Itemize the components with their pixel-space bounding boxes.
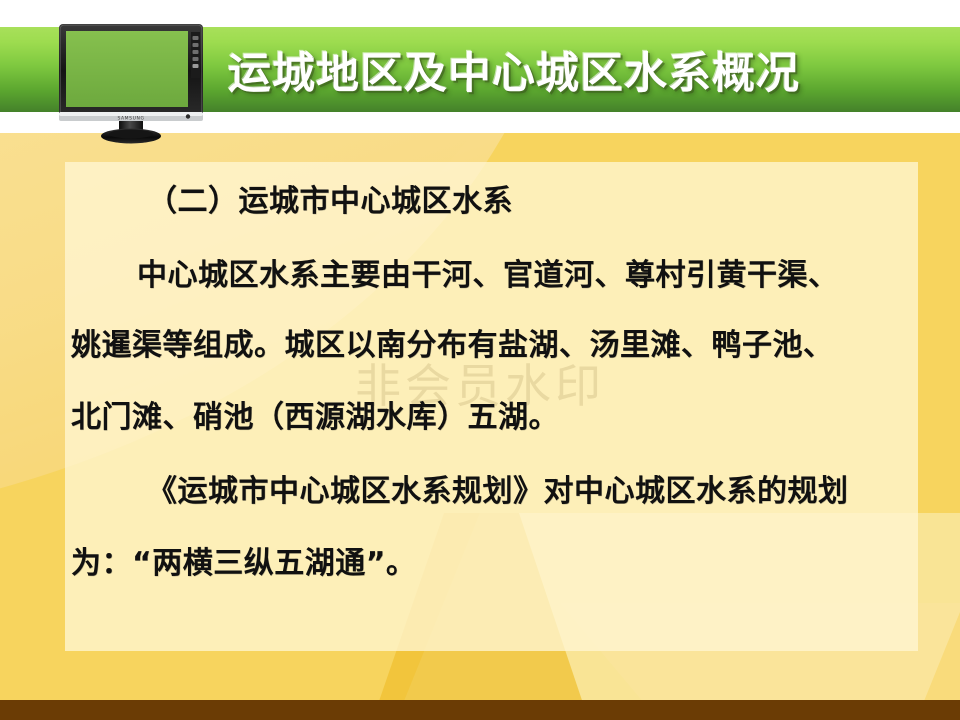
text-line-1: （二）运城市中心城区水系 <box>65 176 918 220</box>
page-title: 运城地区及中心城区水系概况 <box>228 30 928 110</box>
footer-bar <box>0 700 960 720</box>
text-line-5: 《运城市中心城区水系规划》对中心城区水系的规划 <box>65 466 918 510</box>
content-panel: 非会员水印 （二）运城市中心城区水系 中心城区水系主要由干河、官道河、尊村引黄干… <box>65 162 918 651</box>
monitor-icon: SAMSUNG <box>57 22 205 144</box>
svg-text:SAMSUNG: SAMSUNG <box>117 116 144 122</box>
text-line-3: 姚暹渠等组成。城区以南分布有盐湖、汤里滩、鸭子池、 <box>65 320 918 364</box>
text-line-2: 中心城区水系主要由干河、官道河、尊村引黄干渠、 <box>65 250 918 294</box>
slide-canvas: SAMSUNG 运城地区及中心城区水系概况 非会员水印 （二）运城市中心城区水系… <box>0 0 960 720</box>
text-line-4: 北门滩、硝池（西源湖水库）五湖。 <box>65 392 918 436</box>
text-line-6: 为：“两横三纵五湖通”。 <box>65 538 918 582</box>
